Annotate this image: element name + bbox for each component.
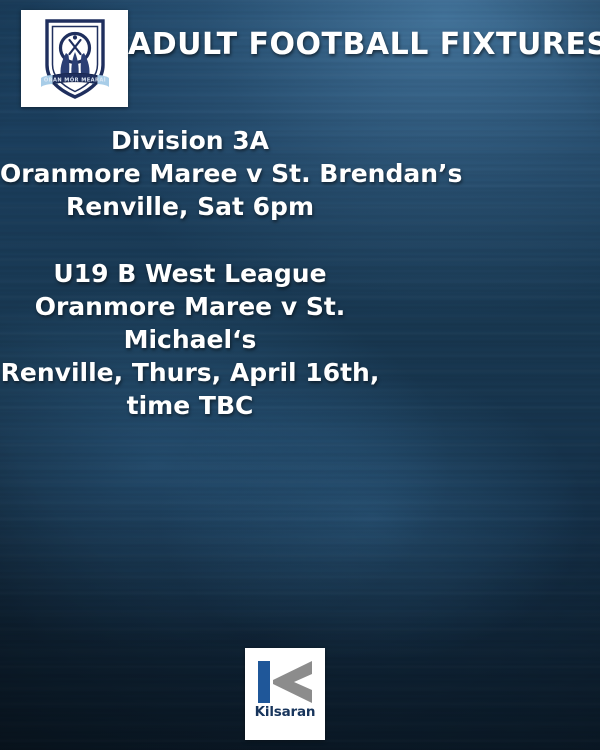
fixture-details-line-2: time TBC — [0, 389, 380, 422]
sponsor-wordmark: Kilsaran — [245, 704, 325, 720]
fixture-match-line-2: Michael‘s — [0, 323, 380, 356]
page-title: ADULT FOOTBALL FIXTURES — [128, 27, 548, 62]
crest-motto: ÓRAN MÓR MEARAÍ — [43, 75, 105, 83]
fixture-match: Oranmore Maree v St. Brendan’s — [0, 157, 380, 190]
fixture-competition: Division 3A — [0, 124, 380, 157]
fixture-competition: U19 B West League — [0, 257, 380, 290]
fixtures-list: Division 3A Oranmore Maree v St. Brendan… — [0, 124, 380, 422]
fixture-item-division-3a: Division 3A Oranmore Maree v St. Brendan… — [0, 124, 380, 223]
fixture-match-line-1: Oranmore Maree v St. — [0, 290, 380, 323]
fixtures-spacer — [0, 223, 380, 257]
fixture-details: Renville, Sat 6pm — [0, 190, 380, 223]
fixtures-poster: ÓRAN MÓR MEARAÍ ADULT FOOTBALL FIXTURES … — [0, 0, 600, 750]
crest-panel: ÓRAN MÓR MEARAÍ — [21, 10, 128, 107]
fixture-details-line-1: Renville, Thurs, April 16th, — [0, 356, 380, 389]
fixture-item-u19-b-west-league: U19 B West League Oranmore Maree v St. M… — [0, 257, 380, 422]
kilsaran-k-icon — [256, 660, 314, 704]
sponsor-panel: Kilsaran — [245, 648, 325, 740]
club-crest-icon: ÓRAN MÓR MEARAÍ — [37, 15, 113, 103]
